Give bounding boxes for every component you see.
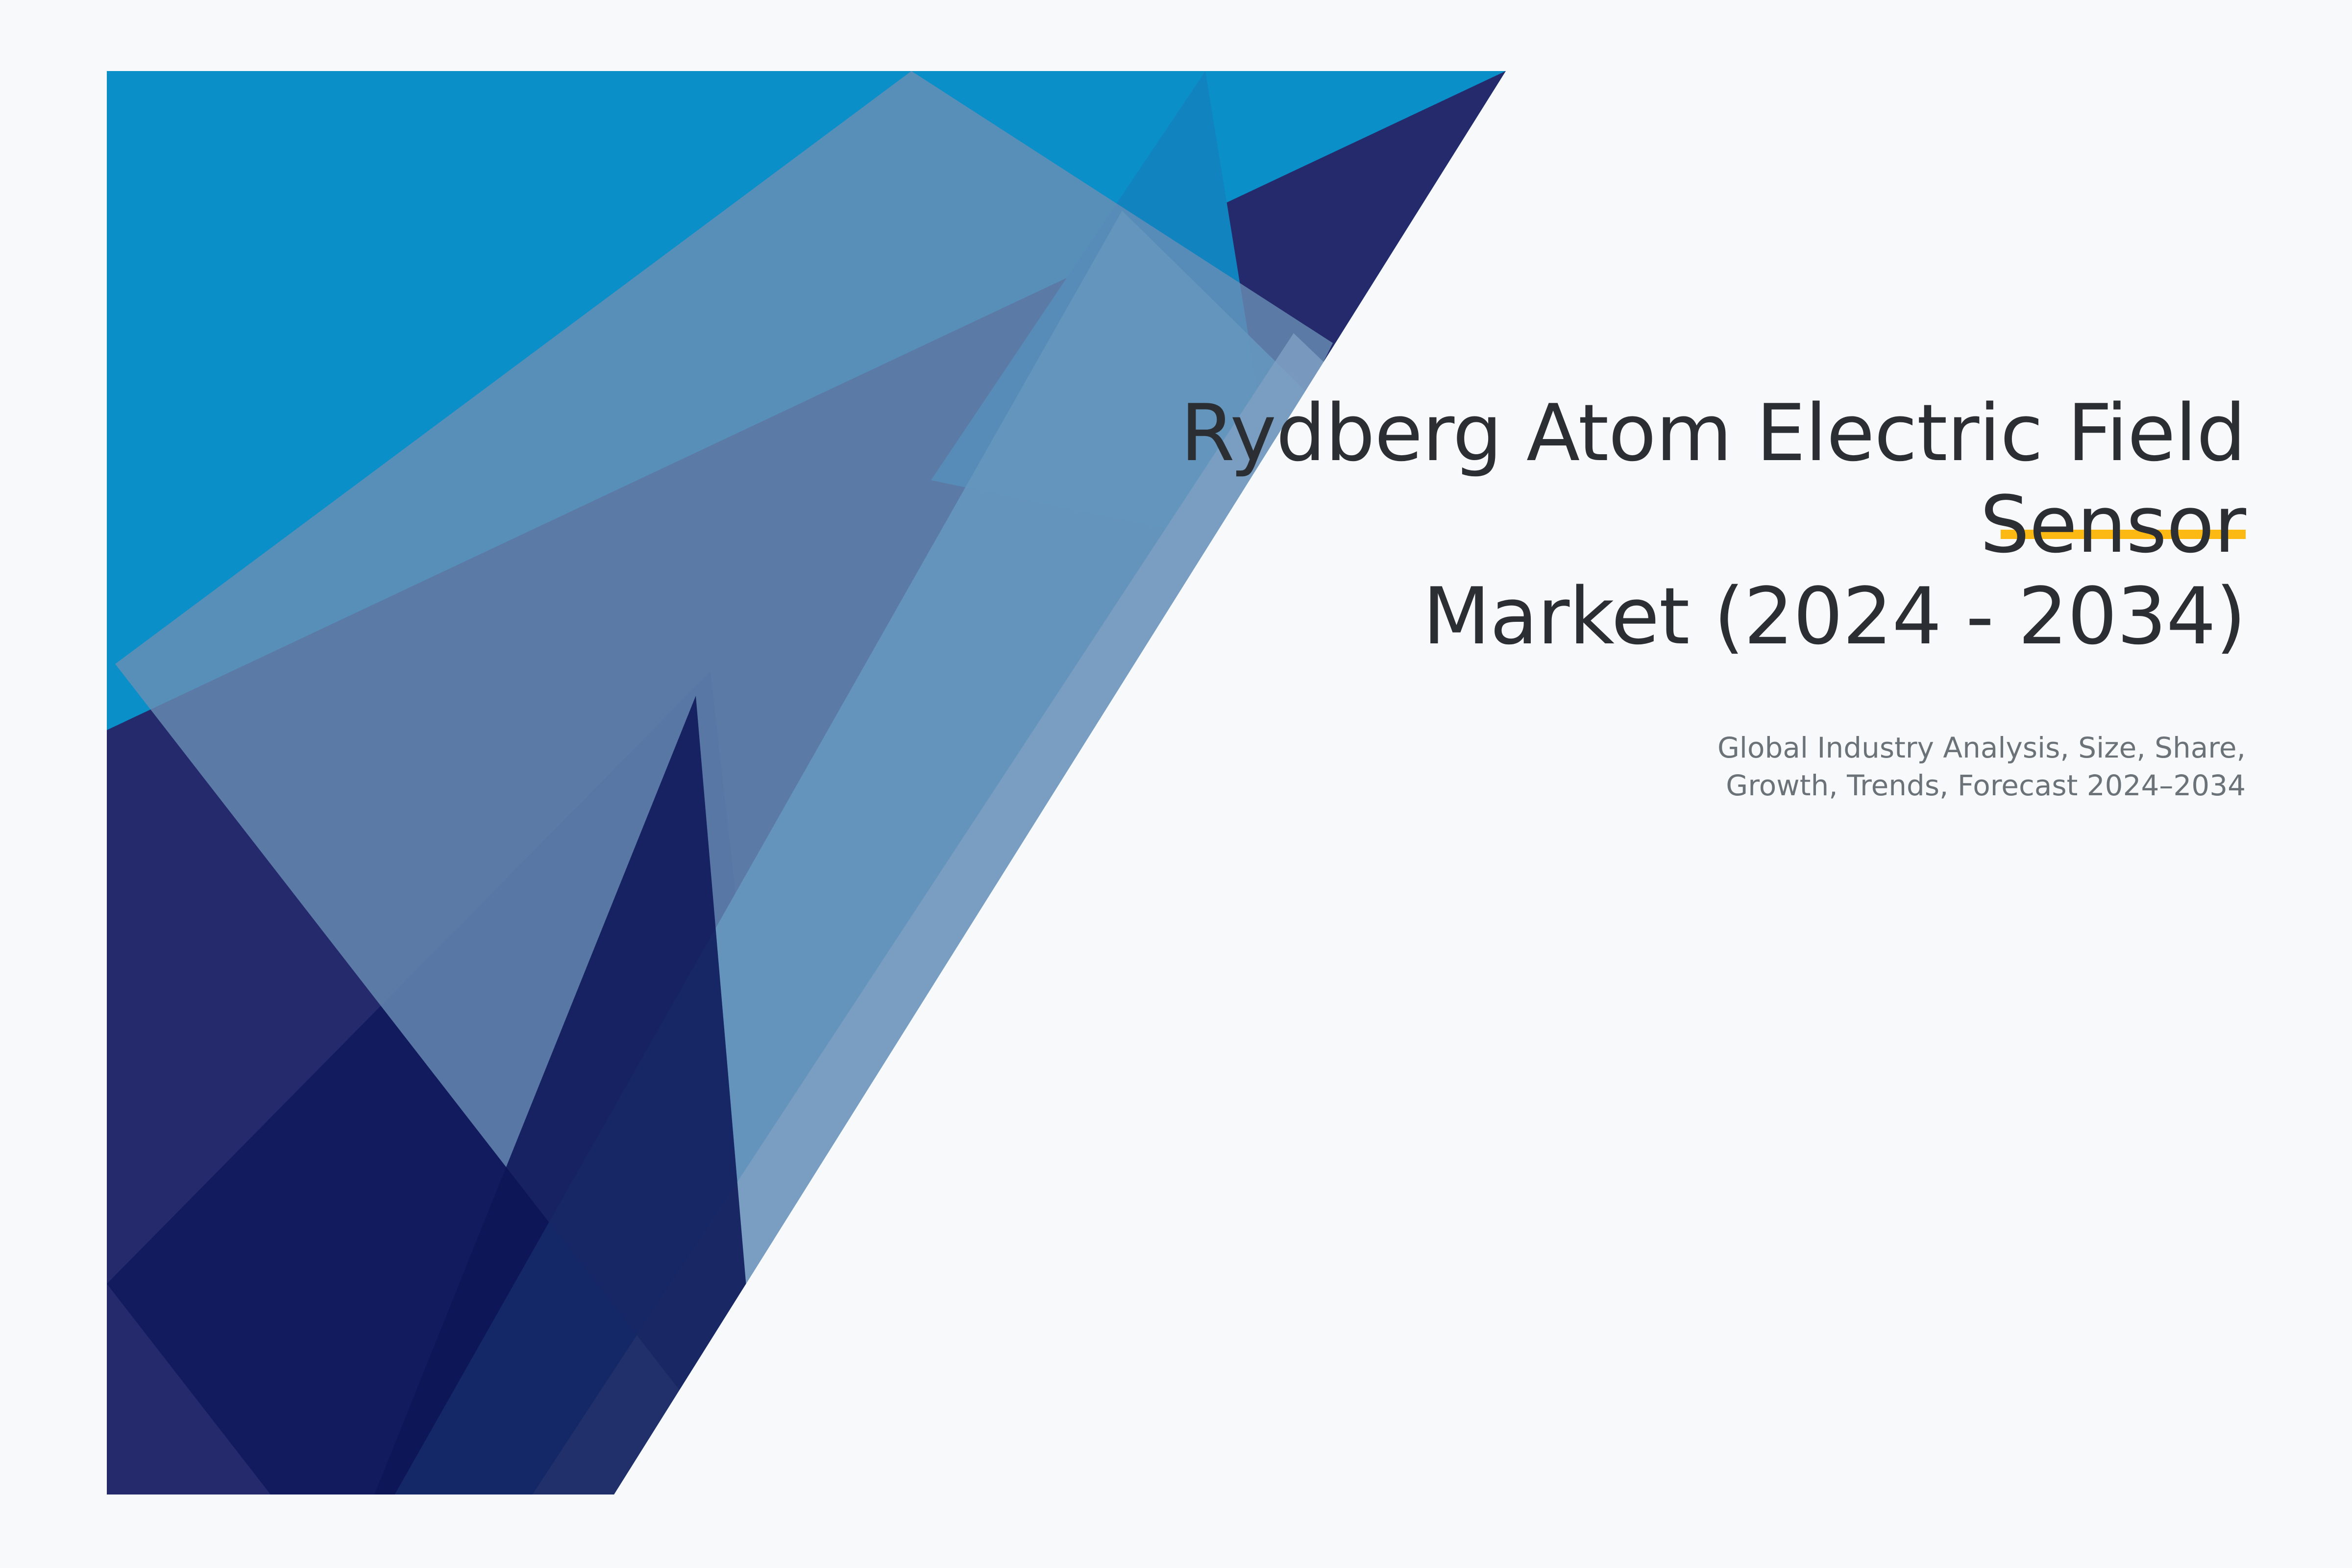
cover-text-block: Rydberg Atom Electric Field Sensor Marke…	[923, 387, 2246, 805]
cover-page: Rydberg Atom Electric Field Sensor Marke…	[0, 0, 2352, 1568]
page-title: Rydberg Atom Electric Field Sensor Marke…	[923, 387, 2246, 662]
title-wrap: Rydberg Atom Electric Field Sensor Marke…	[923, 387, 2246, 662]
page-subtitle: Global Industry Analysis, Size, Share, G…	[923, 662, 2246, 805]
